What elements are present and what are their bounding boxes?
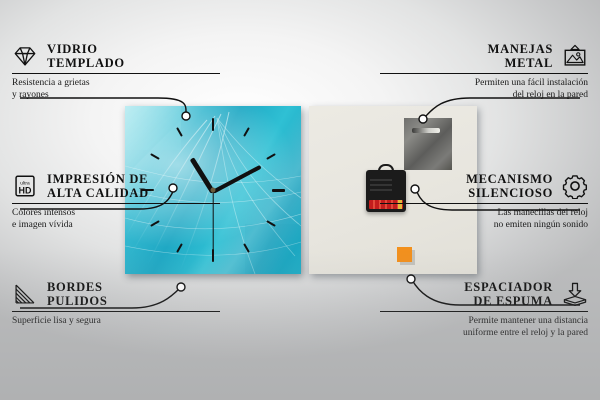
feature-description: Permite mantener una distancia uniforme … (380, 316, 588, 339)
feature-vidrio-templado: VIDRIO TEMPLADO Resistencia a grietas y … (12, 42, 220, 101)
divider (12, 203, 220, 204)
feature-description: Las manecillas del reloj no emiten ningú… (380, 208, 588, 231)
feature-mecanismo-silencioso: MECANISMO SILENCIOSO Las manecillas del … (380, 172, 588, 231)
feature-header: MECANISMO SILENCIOSO (380, 172, 588, 200)
divider (380, 73, 588, 74)
divider (380, 203, 588, 204)
feature-title: ESPACIADOR DE ESPUMA (464, 280, 553, 308)
divider (380, 311, 588, 312)
feature-manejas-metal: MANEJAS METAL Permiten una fácil instala… (380, 42, 588, 101)
divider (12, 73, 220, 74)
hanger-slot (412, 128, 440, 133)
clock-tick (212, 249, 214, 262)
clock-tick (272, 189, 285, 192)
clock-tick (212, 118, 214, 131)
feature-header: BORDES PULIDOS (12, 280, 220, 308)
infographic-canvas: VIDRIO TEMPLADO Resistencia a grietas y … (0, 0, 600, 400)
hanging-frame-icon (562, 43, 588, 69)
ultra-hd-icon: ultra HD (12, 173, 38, 199)
hd-label: HD (19, 185, 32, 195)
feature-header: VIDRIO TEMPLADO (12, 42, 220, 70)
feature-bordes-pulidos: BORDES PULIDOS Superficie lisa y segura (12, 280, 220, 328)
feature-header: ESPACIADOR DE ESPUMA (380, 280, 588, 308)
feature-title: BORDES PULIDOS (47, 280, 107, 308)
feature-description: Resistencia a grietas y rayones (12, 78, 220, 101)
feature-title: MANEJAS METAL (488, 42, 553, 70)
feature-espaciador-de-espuma: ESPACIADOR DE ESPUMA Permite mantener un… (380, 280, 588, 339)
feature-title: VIDRIO TEMPLADO (47, 42, 125, 70)
feature-description: Permiten una fácil instalación del reloj… (380, 78, 588, 101)
feature-header: MANEJAS METAL (380, 42, 588, 70)
feature-impresion-alta-calidad: ultra HD IMPRESIÓN DE ALTA CALIDAD Color… (12, 172, 220, 231)
feature-description: Colores intensos e imagen vívida (12, 208, 220, 231)
feature-title: MECANISMO SILENCIOSO (466, 172, 553, 200)
diamond-icon (12, 43, 38, 69)
gear-icon (562, 173, 588, 199)
polished-edges-icon (12, 281, 38, 307)
feature-header: ultra HD IMPRESIÓN DE ALTA CALIDAD (12, 172, 220, 200)
feature-title: IMPRESIÓN DE ALTA CALIDAD (47, 172, 149, 200)
metal-hanger-plate (404, 118, 452, 170)
feature-description: Superficie lisa y segura (12, 316, 220, 328)
foam-spacer-pad (397, 247, 412, 262)
clock-center-pin (211, 188, 216, 193)
down-arrow-stack-icon (562, 281, 588, 307)
divider (12, 311, 220, 312)
